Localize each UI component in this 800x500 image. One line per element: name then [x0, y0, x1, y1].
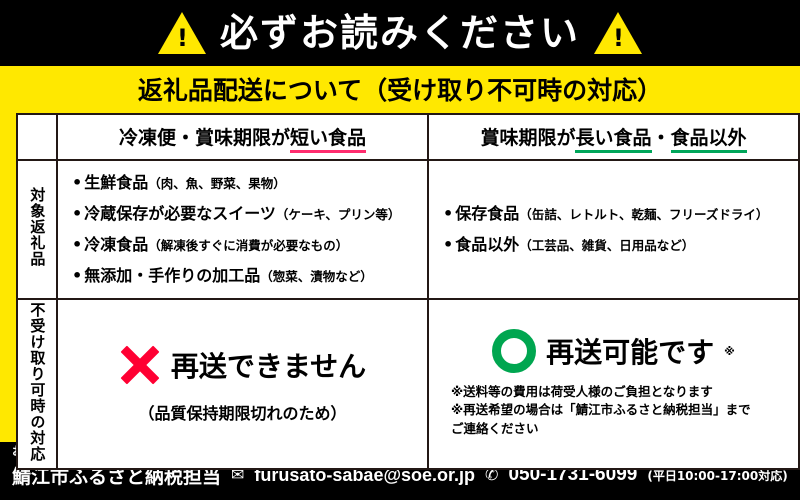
envelope-icon: ✉ [231, 467, 244, 483]
list-item-note: （工芸品、雑貨、日用品など） [519, 238, 694, 254]
cell-right-items: •保存食品（缶詰、レトルト、乾麺、フリーズドライ） •食品以外（工芸品、雑貨、日… [428, 160, 799, 299]
row-label-target: 対象返礼品 [17, 160, 57, 299]
list-item: •無添加・手作りの加工品（惣菜、漬物など） [72, 266, 417, 286]
cell-left-items: •生鮮食品（肉、魚、野菜、果物） •冷蔵保存が必要なスイーツ（ケーキ、プリン等）… [57, 160, 428, 299]
policy-table: 冷凍便・賞味期限が短い食品 賞味期限が長い食品・食品以外 対象返礼品 •生鮮食品… [16, 113, 800, 470]
note-line: ※送料等の費用は荷受人様のご負担となります [451, 383, 790, 401]
row-label-target-text: 対象返礼品 [28, 187, 47, 267]
circle-mark-icon [492, 329, 536, 373]
warning-triangle-icon: ! [594, 12, 642, 54]
right-result-sup: ※ [724, 345, 735, 358]
table-header-row: 冷凍便・賞味期限が短い食品 賞味期限が長い食品・食品以外 [17, 114, 799, 160]
list-item-main: 食品以外 [455, 235, 519, 255]
list-item: •冷凍食品（解凍後すぐに消費が必要なもの） [72, 235, 417, 255]
note-line: ※再送希望の場合は「鯖江市ふるさと納税担当」まで [451, 401, 790, 419]
header-left-mark: 短い食品 [290, 127, 366, 153]
x-mark-icon [119, 344, 161, 386]
header-right-pre: 賞味期限が [480, 127, 575, 149]
header-left-pre: 冷凍便・賞味期限が [119, 127, 290, 149]
result-row-right: 再送可能です ※ [437, 329, 790, 373]
header-right-mid: ・ [652, 127, 671, 149]
result-row-left: 再送できません [66, 344, 419, 386]
list-item-note: （肉、魚、野菜、果物） [148, 176, 286, 192]
list-item: •生鮮食品（肉、魚、野菜、果物） [72, 173, 417, 193]
list-item: •食品以外（工芸品、雑貨、日用品など） [443, 235, 788, 255]
list-item: •保存食品（缶詰、レトルト、乾麺、フリーズドライ） [443, 204, 788, 224]
header-cell-long-shelf-life: 賞味期限が長い食品・食品以外 [428, 114, 799, 160]
table-row: 不受け取り可時の対応 再送できません （品質保持期限切れのため） 再送可能です … [17, 299, 799, 469]
left-result-sub: （品質保持期限切れのため） [66, 400, 419, 424]
list-item-main: 冷蔵保存が必要なスイーツ [84, 204, 276, 224]
list-item-note: （缶詰、レトルト、乾麺、フリーズドライ） [519, 207, 768, 223]
header-right-mark2: 食品以外 [671, 127, 747, 153]
row-label-response: 不受け取り可時の対応 [17, 299, 57, 469]
header-banner: ! 必ずお読みください ! [0, 0, 800, 66]
list-item-main: 無添加・手作りの加工品 [84, 266, 260, 286]
list-item-note: （解凍後すぐに消費が必要なもの） [148, 238, 348, 254]
list-item-main: 保存食品 [455, 204, 519, 224]
header-corner-cell [17, 114, 57, 160]
warning-bang: ! [177, 26, 187, 50]
content-area: 返礼品配送について（受け取り不可時の対応） 冷凍便・賞味期限が短い食品 賞味期限… [0, 66, 800, 442]
section-subtitle: 返礼品配送について（受け取り不可時の対応） [16, 77, 784, 105]
row-label-response-text: 不受け取り可時の対応 [28, 302, 47, 462]
list-item-main: 生鮮食品 [84, 173, 148, 193]
cell-right-result: 再送可能です ※ ※送料等の費用は荷受人様のご負担となります ※再送希望の場合は… [428, 299, 799, 469]
list-item-note: （惣菜、漬物など） [260, 269, 373, 285]
right-result-notes: ※送料等の費用は荷受人様のご負担となります ※再送希望の場合は「鯖江市ふるさと納… [437, 383, 790, 437]
warning-triangle-icon: ! [158, 12, 206, 54]
page-title: 必ずお読みください [220, 14, 580, 52]
header-cell-short-shelf-life: 冷凍便・賞味期限が短い食品 [57, 114, 428, 160]
list-item: •冷蔵保存が必要なスイーツ（ケーキ、プリン等） [72, 204, 417, 224]
note-line: ご連絡ください [451, 420, 790, 438]
right-result-text: 再送可能です [546, 331, 714, 371]
list-item-note: （ケーキ、プリン等） [276, 207, 401, 223]
left-result-text: 再送できません [171, 345, 366, 385]
flyer-page: ! 必ずお読みください ! 返礼品配送について（受け取り不可時の対応） 冷凍便・… [0, 0, 800, 500]
table-row: 対象返礼品 •生鮮食品（肉、魚、野菜、果物） •冷蔵保存が必要なスイーツ（ケーキ… [17, 160, 799, 299]
cell-left-result: 再送できません （品質保持期限切れのため） [57, 299, 428, 469]
header-right-mark1: 長い食品 [575, 127, 651, 153]
phone-icon: ✆ [485, 467, 498, 483]
warning-bang: ! [613, 26, 623, 50]
list-item-main: 冷凍食品 [84, 235, 148, 255]
